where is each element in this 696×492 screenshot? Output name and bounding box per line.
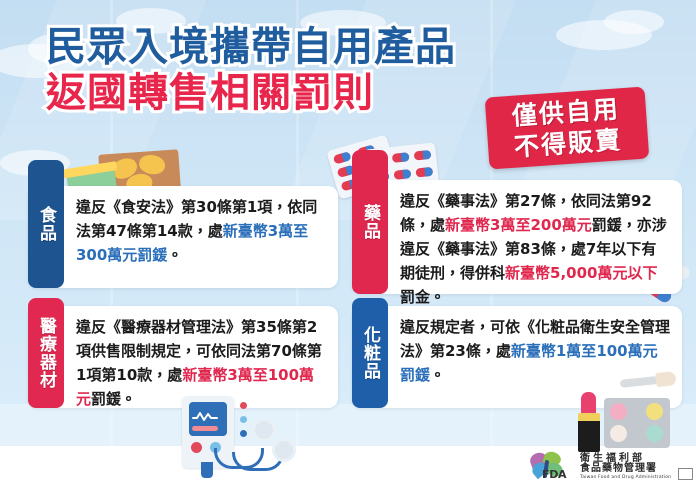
electrode-pad-icon [252, 418, 276, 442]
poster-title: 民眾入境攜帶自用產品 返國轉售相關罰則 [46, 24, 456, 116]
tab-drug-label: 藥品 [361, 204, 379, 240]
text-segment-highlight: 新臺幣3萬至200萬元 [445, 216, 592, 234]
title-line-1: 民眾入境攜帶自用產品 [46, 24, 456, 70]
self-use-only-stamp: 僅供自用 不得販賣 [485, 87, 650, 170]
card-cosmetics: 化粧品 違反規定者，可依《化粧品衛生安全管理法》第23條，處新臺幣1萬至100萬… [352, 306, 682, 408]
tab-cosmetics: 化粧品 [352, 298, 388, 408]
indicator-light [240, 430, 247, 437]
indicator-light [240, 416, 247, 423]
waveform-icon [192, 410, 218, 422]
tab-cosmetics-label: 化粧品 [361, 326, 379, 380]
card-drug: 藥品 違反《藥事法》第27條，依同法第92條，處新臺幣3萬至200萬元罰鍰，亦涉… [352, 180, 682, 294]
tab-medical-device-label: 醫療器材 [37, 317, 55, 389]
stamp-line-2: 不得販賣 [513, 124, 623, 162]
title-line-2: 返國轉售相關罰則 [46, 70, 456, 116]
card-medical-device-text: 違反《醫療器材管理法》第35條第2項供售限制規定，可依同法第70條第1項第10款… [64, 306, 338, 408]
agency-name-line-2: 食品藥物管理署 [580, 464, 671, 475]
text-segment-highlight: 新臺幣5,000萬元以下 [505, 264, 657, 282]
fda-agency-text: 衛生福利部 食品藥物管理署 Taiwan Food and Drug Admin… [580, 454, 671, 481]
card-cosmetics-text: 違反規定者，可依《化粧品衛生安全管理法》第23條，處新臺幣1萬至100萬元罰鍰。 [388, 306, 682, 408]
eyeshadow-palette-icon [604, 398, 670, 448]
text-segment-plain: 。 [430, 366, 445, 384]
card-medical-device: 醫療器材 違反《醫療器材管理法》第35條第2項供售限制規定，可依同法第70條第1… [28, 306, 338, 408]
fda-acronym: FDA [542, 468, 566, 481]
fda-butterfly-icon: FDA [528, 452, 574, 482]
national-emblem-badge [678, 468, 693, 480]
indicator-light [240, 402, 247, 409]
fda-logo: FDA 衛生福利部 食品藥物管理署 Taiwan Food and Drug A… [528, 452, 671, 482]
text-segment-plain: 。 [167, 246, 182, 264]
text-segment-plain: 罰鍰。 [91, 390, 136, 408]
card-drug-text: 違反《藥事法》第27條，依同法第92條，處新臺幣3萬至200萬元罰鍰，亦涉違反《… [388, 180, 682, 294]
tab-drug: 藥品 [352, 150, 388, 294]
tab-medical-device: 醫療器材 [28, 298, 64, 408]
text-segment-plain: 罰金。 [400, 288, 445, 306]
card-food: 食品 違反《食安法》第30條第1項，依同法第47條第14款，處新臺幣3萬至300… [28, 186, 338, 288]
tab-food-label: 食品 [37, 206, 55, 242]
agency-name-english: Taiwan Food and Drug Administration [580, 476, 671, 481]
poster-canvas: 民眾入境攜帶自用產品 返國轉售相關罰則 僅供自用 不得販賣 [0, 0, 696, 492]
tab-food: 食品 [28, 160, 64, 288]
lipstick-icon [578, 392, 600, 452]
cloud-decoration [604, 10, 664, 34]
card-food-text: 違反《食安法》第30條第1項，依同法第47條第14款，處新臺幣3萬至300萬元罰… [64, 186, 338, 288]
electrode-pad-icon [272, 438, 296, 462]
